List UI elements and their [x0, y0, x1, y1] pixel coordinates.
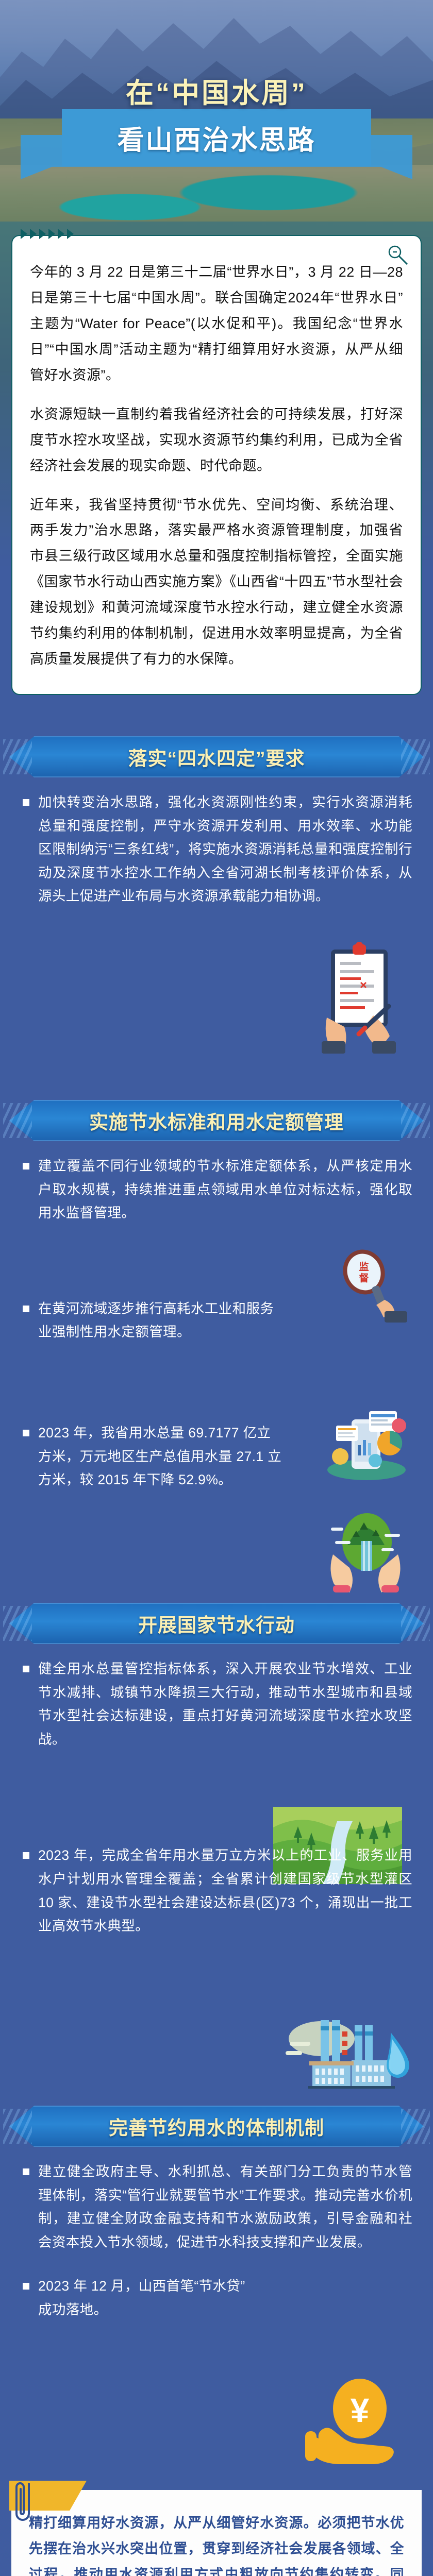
section-si-shui-si-ding: 落实“四水四定”要求 加快转变治水思路，强化水资源刚性约束，实行水资源消耗总量和…	[0, 710, 433, 1074]
section-guojia-jieshui-xingdong: 开展国家节水行动 健全用水总量管控指标体系，深入开展农业节水增效、工业节水减排、…	[0, 1577, 433, 2080]
chevron-left-decor-icon	[3, 1103, 32, 1138]
chevron-right-decor-icon	[401, 1103, 430, 1138]
chevron-right-decor-icon	[401, 739, 430, 774]
triangle-arrow-icon	[39, 229, 46, 239]
bullet-item: 建立健全政府主导、水利抓总、有关部门分工负责的节水管理体制，落实“管行业就要管节…	[21, 2160, 412, 2254]
triangle-arrow-icon	[21, 229, 27, 239]
section-3-header: 开展国家节水行动	[3, 1599, 430, 1648]
section-jieshui-biaozhun: 实施节水标准和用水定额管理 建立覆盖不同行业领域的节水标准定额体系，从严核定用水…	[0, 1074, 433, 1577]
hero-banner: 在“中国水周” 看山西治水思路	[0, 0, 433, 222]
section-4-title: 完善节约用水的体制机制	[109, 2112, 324, 2140]
svg-text:监: 监	[359, 1261, 369, 1273]
paperclip-icon	[13, 2479, 36, 2531]
hero-title-line1: 在“中国水周”	[0, 70, 433, 111]
hero-ribbon: 看山西治水思路	[0, 109, 433, 166]
section-1-title: 落实“四水四定”要求	[128, 743, 305, 771]
hero-title-line2: 看山西治水思路	[117, 118, 315, 157]
bullet-item: 建立覆盖不同行业领域的节水标准定额体系，从严核定用水户取水规模，持续推进重点领域…	[21, 1155, 412, 1225]
bullet-item: 在黄河流域逐步推行高耗水工业和服务业强制性用水定额管理。	[21, 1297, 412, 1344]
section-tizhi-jizhi: 完善节约用水的体制机制 建立健全政府主导、水利抓总、有关部门分工负责的节水管理体…	[0, 2080, 433, 2469]
chevron-left-decor-icon	[3, 739, 32, 774]
section-4-header: 完善节约用水的体制机制	[3, 2102, 430, 2151]
intro-paragraph-1: 今年的 3 月 22 日是第三十二届“世界水日”，3 月 22 日—28 日是第…	[30, 260, 403, 388]
hand-holding-yuan-coin-icon: ¥	[300, 2377, 403, 2472]
section-2-bullets: 建立覆盖不同行业领域的节水标准定额体系，从严核定用水户取水规模，持续推进重点领域…	[0, 1149, 433, 1577]
triangle-arrow-icon	[30, 229, 37, 239]
arrow-marker-row	[21, 229, 422, 239]
closing-text: 精打细算用好水资源，从严从细管好水资源。必须把节水优先摆在治水兴水突出位置，贯穿…	[29, 2511, 404, 2576]
intro-paragraph-3: 近年来，我省坚持贯彻“节水优先、空间均衡、系统治理、两手发力”治水思路，落实最严…	[30, 493, 403, 673]
triangle-arrow-icon	[58, 229, 64, 239]
chevron-right-decor-icon	[401, 2109, 430, 2144]
chevron-left-decor-icon	[3, 1606, 32, 1641]
chevron-right-decor-icon	[401, 1606, 430, 1641]
section-2-title: 实施节水标准和用水定额管理	[89, 1107, 344, 1134]
chevron-left-decor-icon	[3, 2109, 32, 2144]
bullet-item: 2023 年，完成全省年用水量万立方米以上的工业、服务业用水户计划用水管理全覆盖…	[21, 1844, 412, 1938]
bullet-item: 2023 年，我省用水总量 69.7177 亿立方米，万元地区生产总值用水量 2…	[21, 1421, 412, 1492]
closing-zone: 精打细算用好水资源，从严从细管好水资源。必须把节水优先摆在治水兴水突出位置，贯穿…	[0, 2469, 433, 2576]
intro-zone: 今年的 3 月 22 日是第三十二届“世界水日”，3 月 22 日—28 日是第…	[0, 222, 433, 710]
triangle-arrow-icon	[48, 229, 55, 239]
section-3-bullets: 健全用水总量管控指标体系，深入开展农业节水增效、工业节水减排、城镇节水降损三大行…	[0, 1652, 433, 2080]
section-2-header: 实施节水标准和用水定额管理	[3, 1096, 430, 1145]
bullet-item: 健全用水总量管控指标体系，深入开展农业节水增效、工业节水减排、城镇节水降损三大行…	[21, 1657, 412, 1751]
ribbon-plate: 看山西治水思路	[62, 109, 371, 166]
section-1-header: 落实“四水四定”要求	[3, 732, 430, 782]
triangle-arrow-icon	[67, 229, 74, 239]
intro-paragraph-2: 水资源短缺一直制约着我省经济社会的可持续发展，打好深度节水控水攻坚战，实现水资源…	[30, 402, 403, 479]
magnifier-icon	[387, 244, 409, 269]
svg-text:督: 督	[359, 1272, 369, 1284]
svg-text:¥: ¥	[351, 2391, 370, 2429]
section-1-bullets: 加快转变治水思路，强化水资源刚性约束，实行水资源消耗总量和强度控制，严守水资源开…	[0, 786, 433, 1074]
section-4-bullets: 建立健全政府主导、水利抓总、有关部门分工负责的节水管理体制，落实“管行业就要管节…	[0, 2155, 433, 2469]
bullet-item: 加快转变治水思路，强化水资源刚性约束，实行水资源消耗总量和强度控制，严守水资源开…	[21, 791, 412, 908]
bullet-item: 2023 年 12 月，山西首笔“节水贷”成功落地。	[21, 2275, 412, 2321]
intro-card: 今年的 3 月 22 日是第三十二届“世界水日”，3 月 22 日—28 日是第…	[11, 235, 422, 695]
infographic-poster: 在“中国水周” 看山西治水思路 今年的 3	[0, 0, 433, 2576]
closing-card: 精打细算用好水资源，从严从细管好水资源。必须把节水优先摆在治水兴水突出位置，贯穿…	[11, 2490, 422, 2576]
clipboard-checklist-hands-icon	[311, 940, 409, 1061]
section-3-title: 开展国家节水行动	[138, 1609, 295, 1637]
